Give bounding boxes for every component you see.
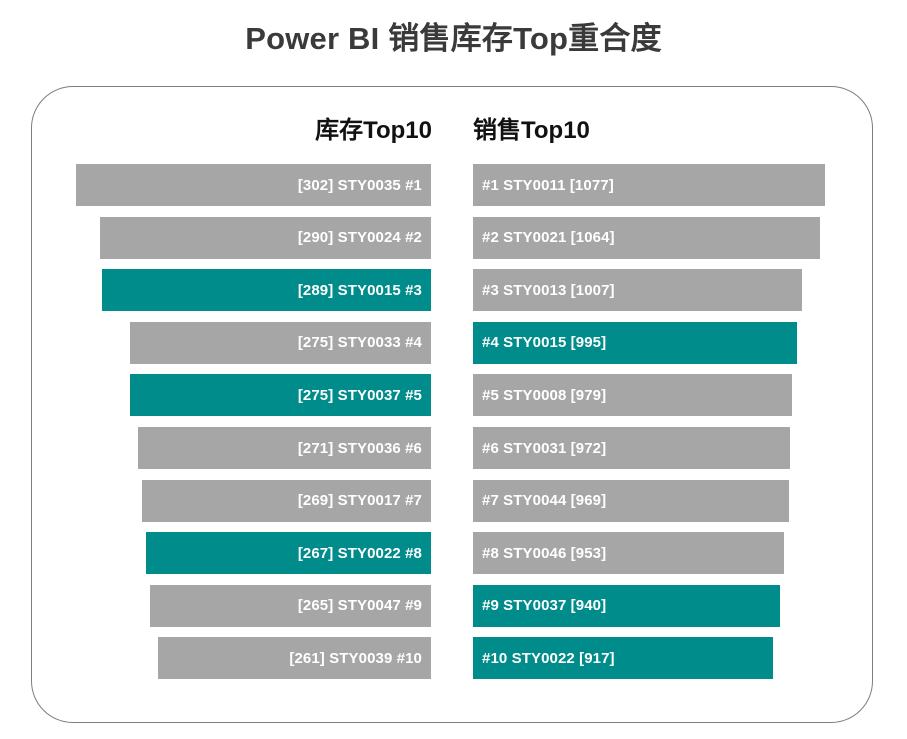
bar-row[interactable]: #3 STY0013 [1007] xyxy=(473,269,802,311)
bar-row[interactable]: [269] STY0017 #7 xyxy=(142,480,431,522)
bar-highlighted[interactable]: [275] STY0037 #5 xyxy=(130,374,431,416)
bar-row[interactable]: #9 STY0037 [940] xyxy=(473,585,780,627)
bar[interactable]: #1 STY0011 [1077] xyxy=(473,164,825,206)
bar[interactable]: [261] STY0039 #10 xyxy=(158,637,431,679)
bar-row[interactable]: #10 STY0022 [917] xyxy=(473,637,773,679)
bar-row[interactable]: [290] STY0024 #2 xyxy=(100,217,431,259)
bar[interactable]: #5 STY0008 [979] xyxy=(473,374,792,416)
bar[interactable]: [275] STY0033 #4 xyxy=(130,322,431,364)
bar-row[interactable]: #4 STY0015 [995] xyxy=(473,322,797,364)
bar-row[interactable]: [265] STY0047 #9 xyxy=(150,585,431,627)
bar-row[interactable]: #1 STY0011 [1077] xyxy=(473,164,825,206)
bar[interactable]: #7 STY0044 [969] xyxy=(473,480,789,522)
bar-row[interactable]: [261] STY0039 #10 xyxy=(158,637,431,679)
bar-row[interactable]: [275] STY0037 #5 xyxy=(130,374,431,416)
page-title: Power BI 销售库存Top重合度 xyxy=(0,13,907,58)
bar[interactable]: #2 STY0021 [1064] xyxy=(473,217,820,259)
bar-row[interactable]: [271] STY0036 #6 xyxy=(138,427,431,469)
bar[interactable]: #8 STY0046 [953] xyxy=(473,532,784,574)
bar[interactable]: [269] STY0017 #7 xyxy=(142,480,431,522)
bar[interactable]: [302] STY0035 #1 xyxy=(76,164,431,206)
bar[interactable]: [290] STY0024 #2 xyxy=(100,217,431,259)
bar-row[interactable]: [289] STY0015 #3 xyxy=(102,269,431,311)
bar[interactable]: #6 STY0031 [972] xyxy=(473,427,790,469)
bar-highlighted[interactable]: #10 STY0022 [917] xyxy=(473,637,773,679)
bar-highlighted[interactable]: #9 STY0037 [940] xyxy=(473,585,780,627)
bar-row[interactable]: #2 STY0021 [1064] xyxy=(473,217,820,259)
bar[interactable]: #3 STY0013 [1007] xyxy=(473,269,802,311)
bar-row[interactable]: [267] STY0022 #8 xyxy=(146,532,431,574)
column-header-inventory: 库存Top10 xyxy=(140,110,432,145)
bar-row[interactable]: #5 STY0008 [979] xyxy=(473,374,792,416)
bar[interactable]: [271] STY0036 #6 xyxy=(138,427,431,469)
bar[interactable]: [265] STY0047 #9 xyxy=(150,585,431,627)
bar-row[interactable]: [302] STY0035 #1 xyxy=(76,164,431,206)
column-header-sales: 销售Top10 xyxy=(473,110,773,145)
bar-row[interactable]: #8 STY0046 [953] xyxy=(473,532,784,574)
bar-highlighted[interactable]: [267] STY0022 #8 xyxy=(146,532,431,574)
bar-highlighted[interactable]: [289] STY0015 #3 xyxy=(102,269,431,311)
bar-row[interactable]: #7 STY0044 [969] xyxy=(473,480,789,522)
bar-highlighted[interactable]: #4 STY0015 [995] xyxy=(473,322,797,364)
bar-row[interactable]: [275] STY0033 #4 xyxy=(130,322,431,364)
bar-row[interactable]: #6 STY0031 [972] xyxy=(473,427,790,469)
